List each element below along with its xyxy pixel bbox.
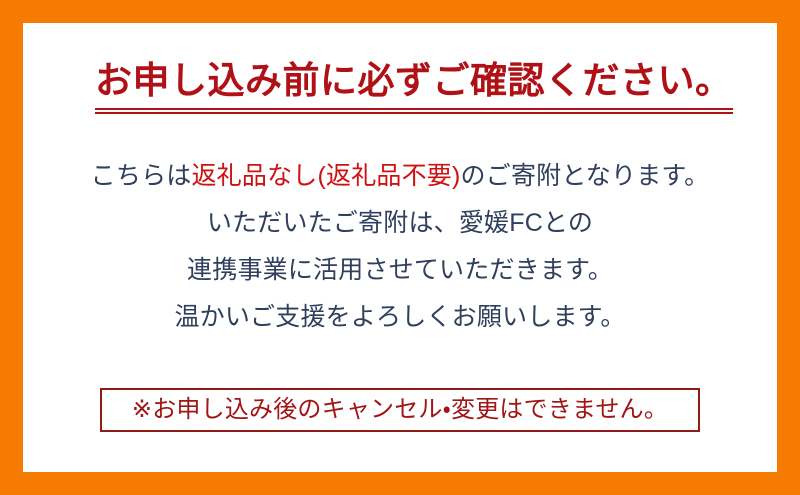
body-text-block: こちらは返礼品なし(返礼品不要)のご寄附となります。 いただいたご寄附は、愛媛F… bbox=[23, 153, 777, 341]
body-line-1-segment-1: こちらは bbox=[91, 162, 192, 190]
body-line-3: 連携事業に活用させていただきます。 bbox=[23, 247, 777, 294]
body-line-2: いただいたご寄附は、愛媛FCとの bbox=[23, 200, 777, 247]
body-line-2-segment-1: いただいたご寄附は、愛媛FCとの bbox=[207, 209, 593, 237]
caution-text: ※お申し込み後のキャンセル・変更はできません。 bbox=[132, 398, 668, 422]
body-line-1: こちらは返礼品なし(返礼品不要)のご寄附となります。 bbox=[23, 153, 777, 200]
body-line-4-segment-1: 温かいご支援をよろしくお願いします。 bbox=[174, 303, 625, 331]
body-line-1-segment-2-emphasis: 返礼品なし(返礼品不要) bbox=[191, 162, 460, 190]
body-line-3-segment-1: 連携事業に活用させていただきます。 bbox=[187, 256, 613, 284]
banner-content-area: お申し込み前に必ずご確認ください。 こちらは返礼品なし(返礼品不要)のご寄附とな… bbox=[23, 23, 777, 472]
heading-container: お申し込み前に必ずご確認ください。 bbox=[95, 60, 697, 110]
body-line-1-segment-3: のご寄附となります。 bbox=[461, 162, 710, 190]
notice-banner: お申し込み前に必ずご確認ください。 こちらは返礼品なし(返礼品不要)のご寄附とな… bbox=[0, 0, 800, 495]
page-title: お申し込み前に必ずご確認ください。 bbox=[95, 60, 733, 110]
body-line-4: 温かいご支援をよろしくお願いします。 bbox=[23, 294, 777, 341]
caution-box: ※お申し込み後のキャンセル・変更はできません。 bbox=[100, 388, 700, 432]
